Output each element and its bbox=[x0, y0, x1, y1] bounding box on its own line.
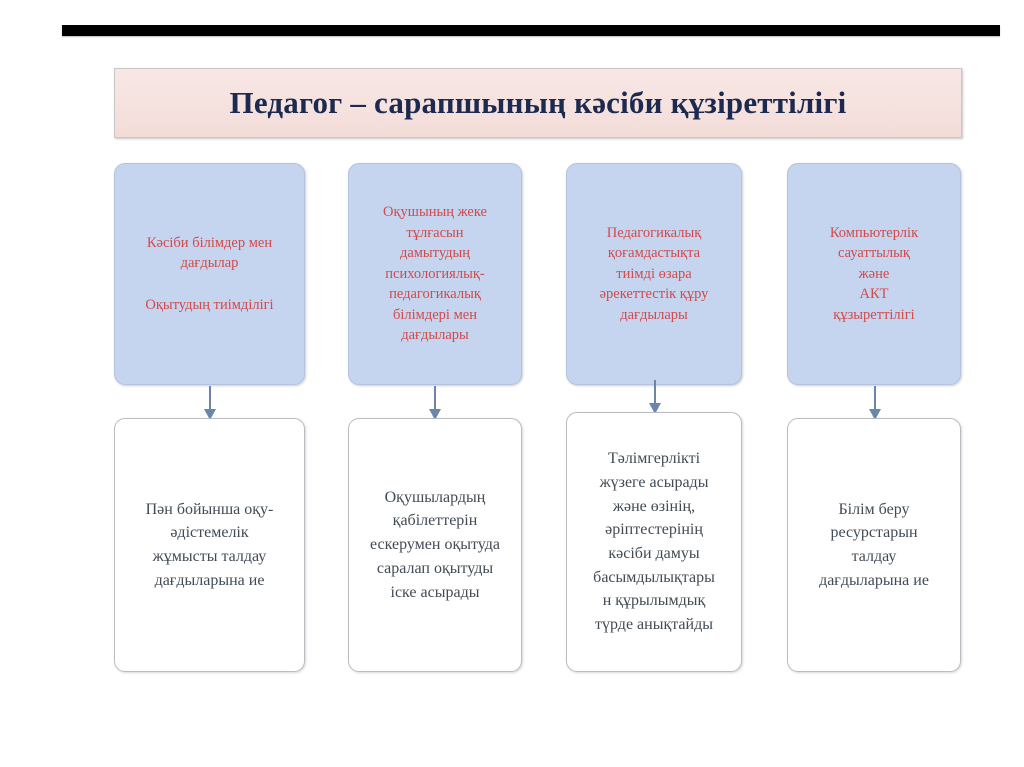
arrow-shaft bbox=[874, 386, 876, 411]
outcome-label-1: Пән бойынша оқу- әдістемелік жұмысты тал… bbox=[146, 498, 274, 593]
arrow-down-icon-1 bbox=[203, 386, 217, 420]
arrow-down-icon-3 bbox=[648, 380, 662, 414]
arrow-shaft bbox=[434, 386, 436, 411]
competency-box-2: Оқушының жеке тұлғасын дамытудың психоло… bbox=[348, 163, 522, 385]
title-banner: Педагог – сарапшының кәсіби құзіреттіліг… bbox=[114, 68, 962, 138]
outcome-label-2: Оқушылардың қабілеттерін ескерумен оқыту… bbox=[370, 486, 500, 604]
outcome-label-4: Білім беру ресурстарын талдау дағдыларын… bbox=[819, 498, 929, 593]
arrow-shaft bbox=[654, 380, 656, 405]
competency-label-1: Кәсіби білімдер мен дағдылар Оқытудың ти… bbox=[145, 233, 273, 315]
arrow-shaft bbox=[209, 386, 211, 411]
competency-label-4: Компьютерлік сауаттылық және АКТ құзырет… bbox=[830, 223, 918, 326]
outcome-box-2: Оқушылардың қабілеттерін ескерумен оқыту… bbox=[348, 418, 522, 672]
competency-box-4: Компьютерлік сауаттылық және АКТ құзырет… bbox=[787, 163, 961, 385]
top-divider-rule bbox=[62, 25, 1000, 36]
outcome-box-4: Білім беру ресурстарын талдау дағдыларын… bbox=[787, 418, 961, 672]
arrow-down-icon-2 bbox=[428, 386, 442, 420]
outcome-box-3: Тәлімгерлікті жүзеге асырады және өзінің… bbox=[566, 412, 742, 672]
arrow-down-icon-4 bbox=[868, 386, 882, 420]
competency-box-3: Педагогикалық қоғамдастықта тиімді өзара… bbox=[566, 163, 742, 385]
competency-label-3: Педагогикалық қоғамдастықта тиімді өзара… bbox=[600, 223, 709, 326]
competency-box-1: Кәсіби білімдер мен дағдылар Оқытудың ти… bbox=[114, 163, 305, 385]
slide-canvas: Педагог – сарапшының кәсіби құзіреттіліг… bbox=[0, 0, 1024, 767]
competency-label-2: Оқушының жеке тұлғасын дамытудың психоло… bbox=[383, 202, 487, 346]
page-title: Педагог – сарапшының кәсіби құзіреттіліг… bbox=[230, 86, 847, 120]
outcome-label-3: Тәлімгерлікті жүзеге асырады және өзінің… bbox=[593, 447, 715, 636]
outcome-box-1: Пән бойынша оқу- әдістемелік жұмысты тал… bbox=[114, 418, 305, 672]
